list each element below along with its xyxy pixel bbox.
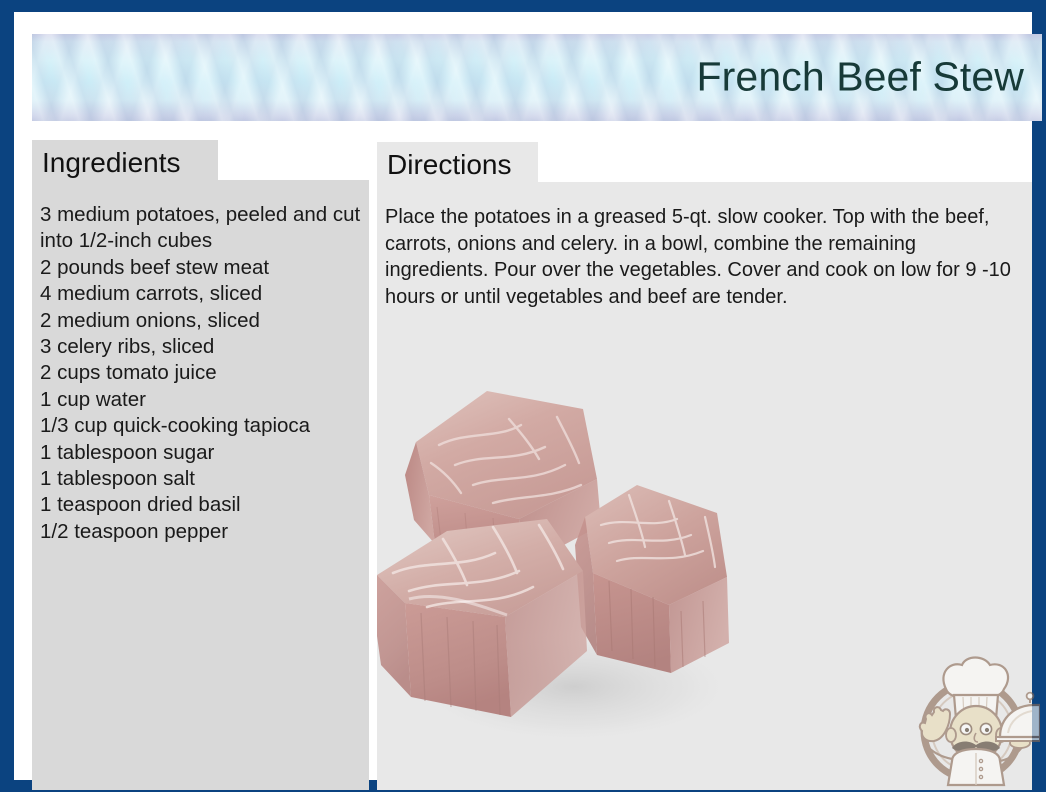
page-title: French Beef Stew — [697, 56, 1024, 97]
ingredient-item: 2 medium onions, sliced — [40, 308, 361, 334]
section-header-ingredients: Ingredients — [32, 140, 218, 180]
ingredient-item: 3 medium potatoes, peeled and cut into 1… — [40, 202, 361, 255]
ingredient-item: 2 pounds beef stew meat — [40, 255, 361, 281]
ingredient-item: 1/2 teaspoon pepper — [40, 519, 361, 545]
ingredients-panel: 3 medium potatoes, peeled and cut into 1… — [32, 180, 369, 790]
ingredient-item: 1 tablespoon sugar — [40, 440, 361, 466]
directions-paragraph: Place the potatoes in a greased 5-qt. sl… — [385, 204, 1015, 310]
ingredient-item: 1 tablespoon salt — [40, 466, 361, 492]
ingredient-item: 3 celery ribs, sliced — [40, 334, 361, 360]
directions-panel: Place the potatoes in a greased 5-qt. sl… — [377, 182, 1032, 790]
ingredient-item: 4 medium carrots, sliced — [40, 281, 361, 307]
page-surface: French Beef Stew Ingredients Directions … — [14, 12, 1032, 780]
section-header-directions: Directions — [377, 142, 538, 182]
ingredient-item: 2 cups tomato juice — [40, 360, 361, 386]
beef-stew-meat-cubes-photo — [377, 367, 769, 767]
ingredient-item: 1/3 cup quick-cooking tapioca — [40, 413, 361, 439]
ingredient-list: 3 medium potatoes, peeled and cut into 1… — [40, 202, 361, 545]
title-banner: French Beef Stew — [32, 34, 1042, 121]
recipe-slide: French Beef Stew Ingredients Directions … — [0, 0, 1046, 792]
ingredient-item: 1 teaspoon dried basil — [40, 492, 361, 518]
ingredient-item: 1 cup water — [40, 387, 361, 413]
